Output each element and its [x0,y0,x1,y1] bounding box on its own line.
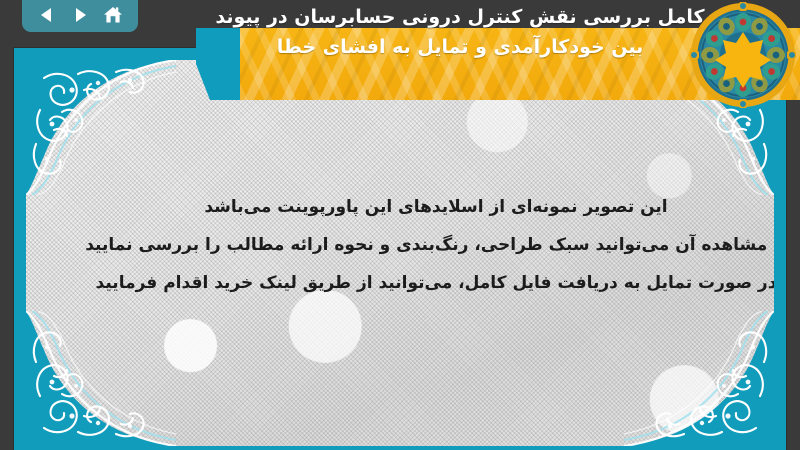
slide-body-text: این تصویر نمونه‌ای از اسلایدهای این پاور… [86,188,774,302]
next-slide-button[interactable] [67,4,93,26]
body-line: در صورت تمایل به دریافت فایل کامل، می‌تو… [86,264,774,302]
triangle-right-icon [71,6,89,24]
persian-medallion-icon [690,2,796,108]
home-button[interactable] [100,4,126,26]
body-line: این تصویر نمونه‌ای از اسلایدهای این پاور… [86,188,774,226]
slide-frame: این تصویر نمونه‌ای از اسلایدهای این پاور… [14,48,786,450]
slide-content-panel: این تصویر نمونه‌ای از اسلایدهای این پاور… [26,60,774,446]
arabesque-corner-icon [624,311,774,446]
arabesque-corner-icon [26,60,176,195]
page-title: کامل بررسی نقش کنترل درونی حسابرسان در پ… [210,2,710,62]
arabesque-corner-icon [26,311,176,446]
body-line: با مشاهده آن می‌توانید سبک طراحی، رنگ‌بن… [86,226,774,264]
slide-viewer: این تصویر نمونه‌ای از اسلایدهای این پاور… [0,0,800,450]
slide-navigation-bar [22,0,138,32]
home-icon [103,6,123,24]
previous-slide-button[interactable] [34,4,60,26]
triangle-left-icon [38,6,56,24]
